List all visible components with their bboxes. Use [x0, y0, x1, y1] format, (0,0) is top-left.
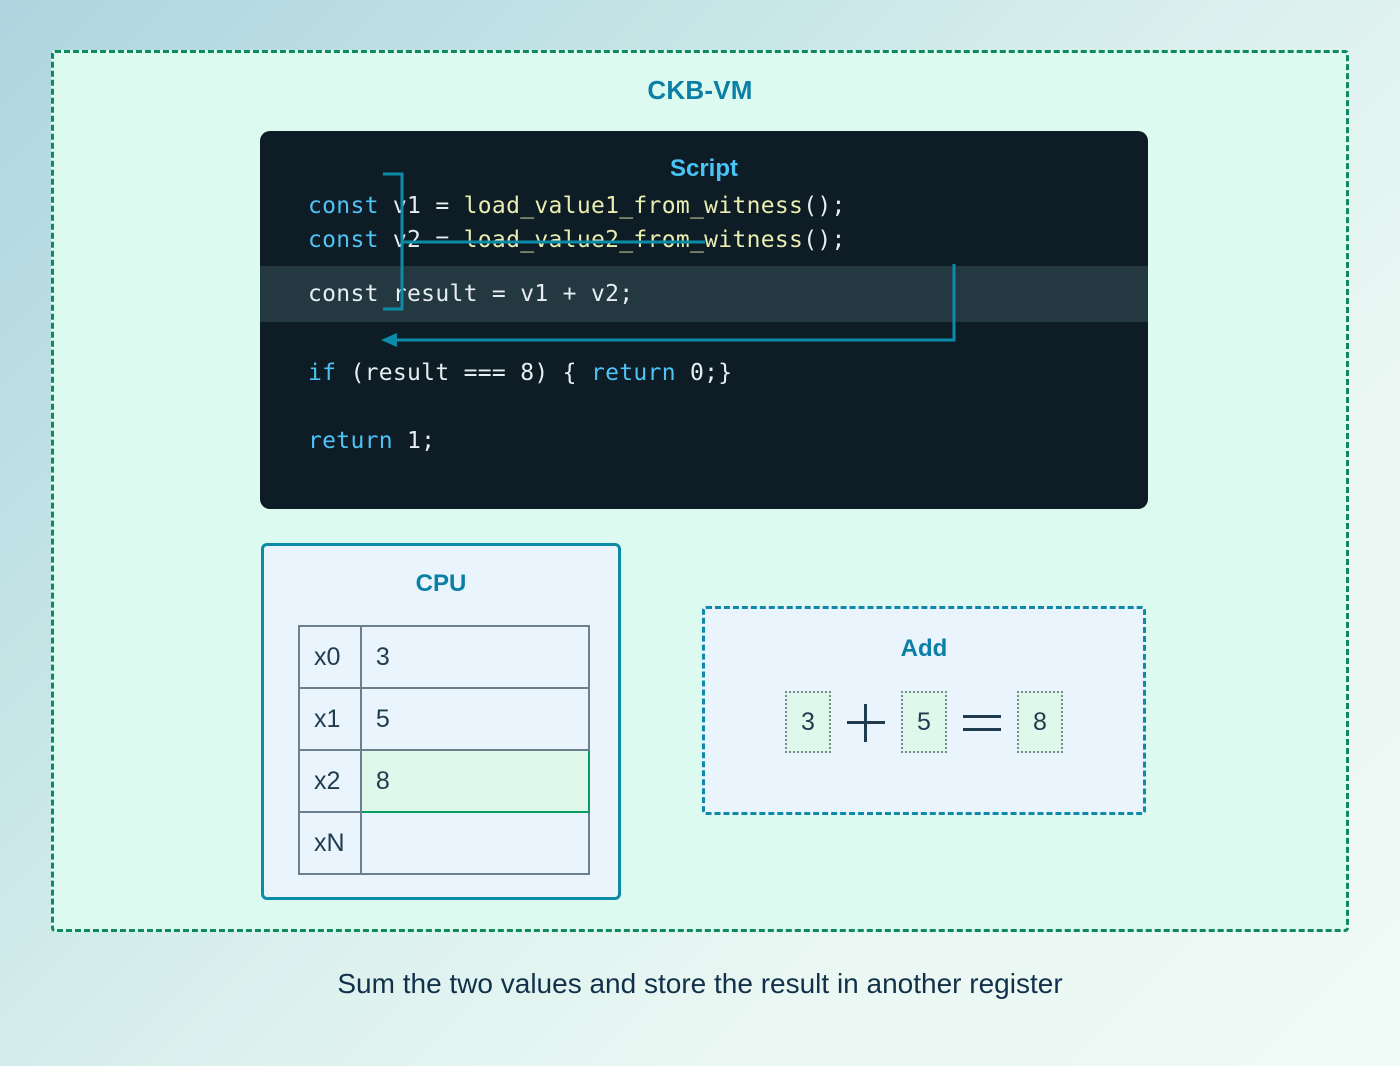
add-result: 8: [1017, 691, 1063, 753]
code-line: const v2 = load_value2_from_witness();: [260, 223, 1148, 257]
register-name: x1: [299, 688, 361, 750]
code-token: ();: [803, 193, 845, 219]
script-code-block: const v1 = load_value1_from_witness();co…: [260, 189, 1148, 458]
ckb-vm-title: CKB-VM: [54, 75, 1346, 106]
register-name: x2: [299, 750, 361, 812]
register-table: x03x15x28xN: [298, 625, 590, 875]
code-token: if: [308, 360, 336, 386]
script-title: Script: [260, 131, 1148, 189]
cpu-title: CPU: [264, 546, 618, 598]
add-operand-b: 5: [901, 691, 947, 753]
register-name: xN: [299, 812, 361, 874]
code-token: load_value2_from_witness: [464, 227, 804, 253]
register-value-highlighted: 8: [361, 750, 589, 812]
register-name: x0: [299, 626, 361, 688]
add-expression: 3 5 8: [705, 691, 1143, 753]
register-value: 5: [361, 688, 589, 750]
code-token: const result = v1 + v2;: [308, 281, 633, 307]
code-token: ();: [803, 227, 845, 253]
register-row: x03: [299, 626, 589, 688]
add-title: Add: [705, 609, 1143, 663]
register-row: x28: [299, 750, 589, 812]
code-token: v1 =: [379, 193, 464, 219]
script-panel: Script const v1 = load_value1_from_witne…: [260, 131, 1148, 509]
code-token: const: [308, 227, 379, 253]
code-line: return 1;: [260, 424, 1148, 458]
register-value: 3: [361, 626, 589, 688]
diagram-caption: Sum the two values and store the result …: [0, 968, 1400, 1000]
plus-icon: [845, 701, 887, 743]
code-token: return: [591, 360, 676, 386]
register-value: [361, 812, 589, 874]
code-token: 1;: [393, 428, 435, 454]
add-operand-a: 3: [785, 691, 831, 753]
code-line: const v1 = load_value1_from_witness();: [260, 189, 1148, 223]
add-panel: Add 3 5 8: [702, 606, 1146, 815]
ckb-vm-container: CKB-VM Script const v1 = load_value1_fro…: [51, 50, 1349, 932]
cpu-panel: CPU x03x15x28xN: [261, 543, 621, 900]
equals-icon: [961, 701, 1003, 743]
code-spacer: [260, 390, 1148, 424]
code-token: const: [308, 193, 379, 219]
register-row: xN: [299, 812, 589, 874]
code-token: v2 =: [379, 227, 464, 253]
code-token: return: [308, 428, 393, 454]
code-token: load_value1_from_witness: [464, 193, 804, 219]
code-spacer: [260, 322, 1148, 356]
register-row: x15: [299, 688, 589, 750]
code-token: (result === 8) {: [336, 360, 591, 386]
code-line-highlighted: const result = v1 + v2;: [260, 266, 1148, 322]
code-token: 0;}: [676, 360, 733, 386]
code-line: if (result === 8) { return 0;}: [260, 356, 1148, 390]
